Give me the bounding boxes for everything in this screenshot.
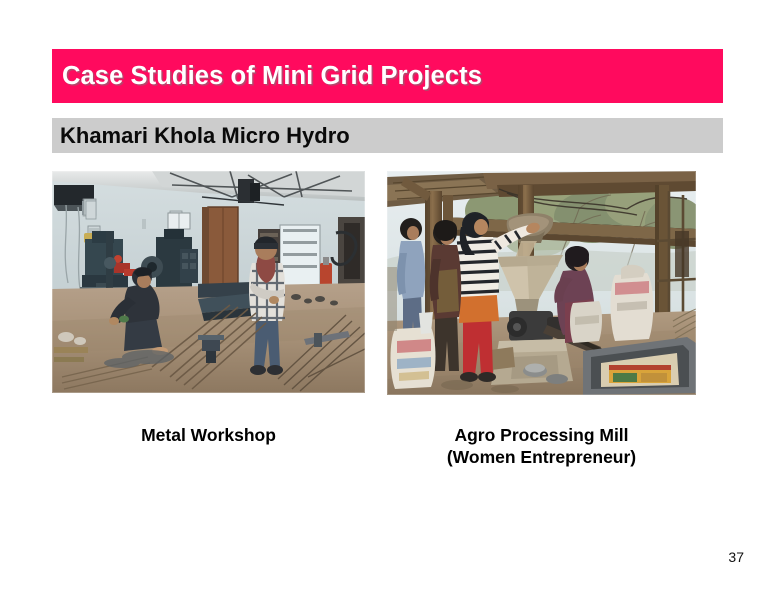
photo-metal-workshop xyxy=(52,171,365,393)
caption-line-1: Agro Processing Mill xyxy=(387,424,696,446)
metal-workshop-illustration xyxy=(52,171,365,393)
title-banner: Case Studies of Mini Grid Projects xyxy=(52,49,723,103)
caption-agro-processing-mill: Agro Processing Mill (Women Entrepreneur… xyxy=(387,424,696,468)
agro-mill-illustration xyxy=(387,171,696,395)
photo-agro-processing-mill xyxy=(387,171,696,395)
caption-metal-workshop: Metal Workshop xyxy=(52,424,365,446)
subtitle-text: Khamari Khola Micro Hydro xyxy=(60,123,350,149)
subtitle-banner: Khamari Khola Micro Hydro xyxy=(52,118,723,153)
caption-line-2: (Women Entrepreneur) xyxy=(387,446,696,468)
page-number: 37 xyxy=(728,549,744,565)
page-title: Case Studies of Mini Grid Projects xyxy=(62,62,482,91)
caption-line-1: Metal Workshop xyxy=(52,424,365,446)
slide-canvas: Case Studies of Mini Grid Projects Khama… xyxy=(0,0,776,600)
